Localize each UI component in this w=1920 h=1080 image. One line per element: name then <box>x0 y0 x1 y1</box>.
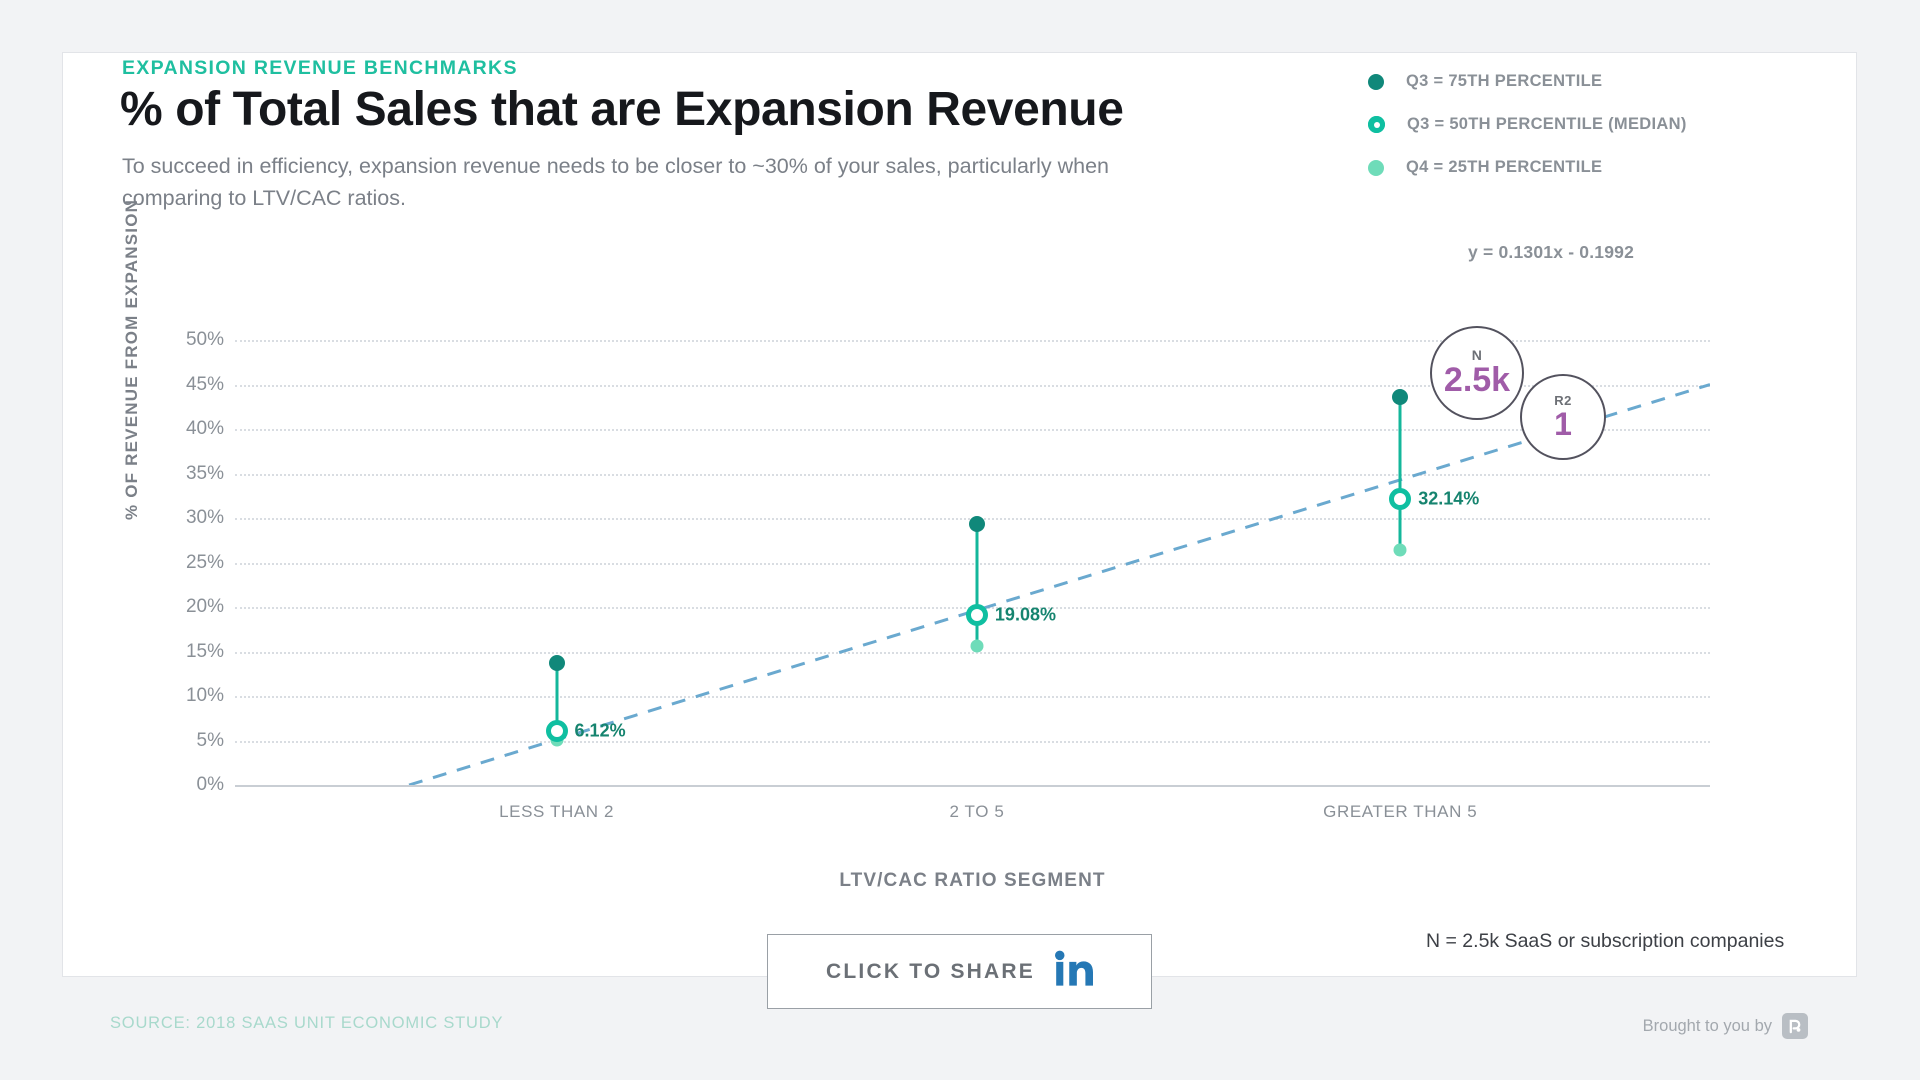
stat-bubble-n: N 2.5k <box>1430 326 1524 420</box>
brand-logo-icon <box>1782 1013 1808 1039</box>
data-point-value-label: 6.12% <box>575 720 626 741</box>
data-point-median <box>1389 488 1411 510</box>
trendline-equation: y = 0.1301x - 0.1992 <box>1468 242 1634 263</box>
legend-item-label: Q4 = 25TH PERCENTILE <box>1406 158 1602 177</box>
y-axis-tick-label: 35% <box>186 463 224 485</box>
brought-to-you-by-label: Brought to you by <box>1643 1017 1772 1036</box>
legend-item-0: Q3 = 75TH PERCENTILE <box>1368 60 1687 103</box>
chart-legend: Q3 = 75TH PERCENTILEQ3 = 50TH PERCENTILE… <box>1368 60 1687 189</box>
y-axis-tick-label: 30% <box>186 507 224 529</box>
y-axis-tick-label: 50% <box>186 329 224 351</box>
x-axis-category-label: GREATER THAN 5 <box>1323 802 1477 822</box>
legend-item-label: Q3 = 75TH PERCENTILE <box>1406 72 1602 91</box>
x-axis-category-label: LESS THAN 2 <box>499 802 614 822</box>
x-axis-title: LTV/CAC RATIO SEGMENT <box>235 870 1710 892</box>
data-point-value-label: 19.08% <box>995 605 1056 626</box>
whisker-line <box>975 524 978 646</box>
y-axis-tick-label: 0% <box>197 774 224 796</box>
stat-r2-value: 1 <box>1554 408 1572 442</box>
data-point-q4 <box>970 640 983 653</box>
x-axis-baseline <box>235 785 1710 787</box>
stat-n-value: 2.5k <box>1444 363 1510 399</box>
data-point-q3 <box>969 516 985 532</box>
page-subtitle: To succeed in efficiency, expansion reve… <box>122 150 1182 214</box>
source-label: SOURCE: 2018 SAAS UNIT ECONOMIC STUDY <box>110 1014 503 1033</box>
legend-marker-icon <box>1368 160 1384 176</box>
sample-size-note: N = 2.5k SaaS or subscription companies <box>1426 930 1784 953</box>
y-axis-tick-label: 25% <box>186 552 224 574</box>
y-axis-title: % OF REVENUE FROM EXPANSION <box>122 199 142 520</box>
legend-marker-icon <box>1368 74 1384 90</box>
brought-to-you-by: Brought to you by <box>1643 1013 1808 1039</box>
y-axis-tick-label: 40% <box>186 418 224 440</box>
data-point-q3 <box>549 655 565 671</box>
y-axis-tick-label: 15% <box>186 641 224 663</box>
data-point-median <box>546 720 568 742</box>
y-axis-tick-label: 20% <box>186 596 224 618</box>
data-point-value-label: 32.14% <box>1418 488 1479 509</box>
legend-item-label: Q3 = 50TH PERCENTILE (MEDIAN) <box>1407 115 1687 134</box>
share-button-label: CLICK TO SHARE <box>826 960 1035 984</box>
eyebrow-label: EXPANSION REVENUE BENCHMARKS <box>122 57 518 80</box>
legend-item-2: Q4 = 25TH PERCENTILE <box>1368 146 1687 189</box>
page-title: % of Total Sales that are Expansion Reve… <box>120 82 1124 137</box>
click-to-share-button[interactable]: CLICK TO SHARE <box>767 934 1152 1009</box>
x-axis-category-label: 2 TO 5 <box>949 802 1004 822</box>
whisker-line <box>1399 397 1402 550</box>
legend-item-1: Q3 = 50TH PERCENTILE (MEDIAN) <box>1368 103 1687 146</box>
stat-bubble-r2: R2 1 <box>1520 374 1606 460</box>
linkedin-icon <box>1055 950 1093 993</box>
data-point-q4 <box>1394 544 1407 557</box>
infographic-root: EXPANSION REVENUE BENCHMARKS % of Total … <box>0 0 1920 1080</box>
data-point-median <box>966 604 988 626</box>
legend-marker-icon <box>1368 116 1385 133</box>
y-axis-tick-label: 45% <box>186 374 224 396</box>
data-point-q3 <box>1392 389 1408 405</box>
y-axis-tick-label: 5% <box>197 730 224 752</box>
y-axis-tick-label: 10% <box>186 685 224 707</box>
